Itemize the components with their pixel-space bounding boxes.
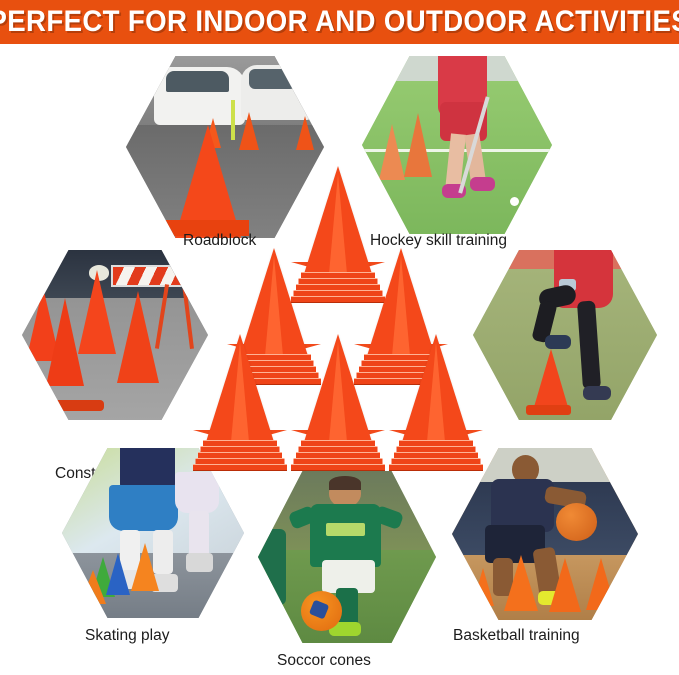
skating-child2-skate [186,553,213,572]
roadblock-marker-stick [231,100,235,140]
soccer-jersey-logo [326,523,365,537]
soccer-scene [258,471,436,643]
product-cone-bottom-right [402,334,470,474]
product-cone-bottom-center [304,334,372,474]
roadblock-cone-far-3 [296,116,314,150]
skating-cone-blue [106,553,130,595]
agility-shoe-standing [583,386,611,400]
skating-child-skirt [109,485,178,531]
cone-highlight [329,342,347,442]
tile-soccer-label: Soccor cones [277,652,371,670]
cone-highlight [427,342,445,442]
construction-barrier-panel [111,265,200,287]
tile-skating-label: Skating play [85,627,169,645]
construction-scene [22,250,208,420]
cone-base-ring [291,464,385,471]
agility-scene [473,250,657,420]
skating-cone-yellow-green [80,570,106,604]
skating-child2-skirt [175,472,219,513]
roadblock-car-left-window [166,71,229,93]
construction-cone-base-shadow [41,400,104,412]
agility-cone-base [526,405,570,415]
soccer-teammate [258,529,286,605]
header-banner: PERFECT FOR INDOOR AND OUTDOOR ACTIVITIE… [0,0,679,44]
basketball-ball [556,503,597,541]
tile-basketball-label: Basketball training [453,627,580,645]
tile-soccer-image [258,471,436,643]
construction-cone-4 [117,291,159,383]
basketball-cone-3 [549,558,581,612]
product-cone-pyramid [214,166,462,476]
hockey-shoe-right [470,177,495,191]
cone-highlight [329,174,347,274]
hockey-ball [510,197,519,206]
roadblock-cone-far-2 [239,112,259,150]
basketball-cone-1 [472,568,494,606]
tile-agility-image [473,250,657,420]
agility-shoe-raised [545,335,571,349]
soccer-player-hair [329,476,361,490]
tile-construction-image [22,250,208,420]
product-cone-top [304,166,372,306]
product-cone-bottom-left [206,334,274,474]
basketball-cone-4 [586,558,616,610]
roadblock-car-right-window [249,69,297,89]
skating-cone-orange [131,543,159,591]
basketball-cone-2 [504,555,538,611]
cone-base-ring [193,464,287,471]
banner-title: PERFECT FOR INDOOR AND OUTDOOR ACTIVITIE… [0,5,679,39]
basketball-scene [452,448,638,620]
agility-cone [534,349,568,407]
cone-base-ring [389,464,483,471]
tile-basketball-image [452,448,638,620]
infographic-stage: Roadblock Hockey skill training [0,44,679,675]
construction-cone-3 [78,270,116,354]
basketball-player-shirt [491,479,554,532]
cone-highlight [231,342,249,442]
